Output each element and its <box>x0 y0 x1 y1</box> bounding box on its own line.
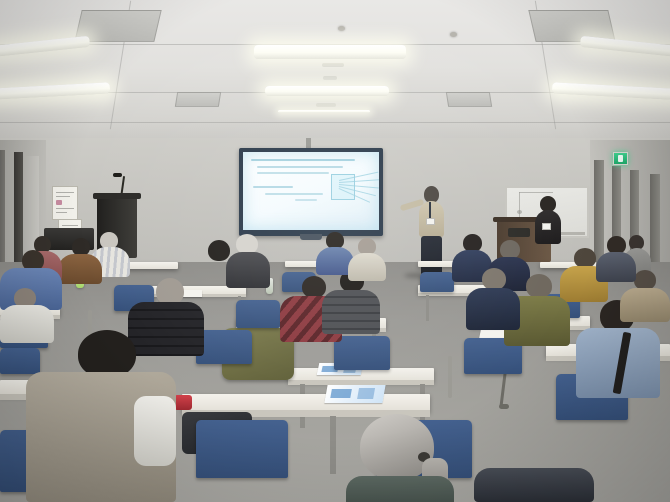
presenter-legs <box>421 236 442 276</box>
ceiling-light <box>0 36 90 59</box>
chair[interactable] <box>334 336 390 370</box>
ceiling-vent <box>175 92 221 107</box>
lectern-top <box>93 193 141 199</box>
torso <box>620 288 670 322</box>
chair[interactable] <box>196 330 252 364</box>
attendee-grey-vest <box>26 330 176 502</box>
podium-equipment <box>508 228 530 237</box>
ceiling-detector <box>316 103 336 107</box>
microphone-icon <box>113 173 122 177</box>
presenter-badge <box>426 218 435 225</box>
torso <box>226 252 270 288</box>
attendee-brown-jacket <box>58 238 102 282</box>
torso <box>58 254 102 284</box>
seminar-room-photo: Audience seated at rows of white tables … <box>0 0 670 502</box>
red-cup[interactable] <box>174 395 192 410</box>
chair[interactable] <box>420 272 454 292</box>
head <box>482 268 506 290</box>
head <box>526 274 552 298</box>
left-door-frame <box>0 150 5 266</box>
ceiling-light <box>552 82 670 100</box>
exit-sign-icon <box>613 152 628 165</box>
arm-sleeve <box>134 396 176 466</box>
ceiling-speaker <box>322 63 344 67</box>
head <box>78 330 136 378</box>
ceiling-light-strip <box>278 110 370 113</box>
chair[interactable] <box>236 300 280 328</box>
head <box>634 270 656 290</box>
torso <box>466 288 520 330</box>
ceiling-speaker <box>323 76 337 80</box>
attendee-navy-sweater <box>466 268 520 328</box>
ceiling-light <box>254 45 406 59</box>
chair[interactable] <box>196 420 288 478</box>
ceiling-vent <box>446 92 492 107</box>
torso <box>474 468 594 502</box>
attendee-ponytail <box>346 414 456 502</box>
head <box>156 278 184 305</box>
ceiling <box>0 0 670 150</box>
left-door[interactable] <box>14 152 23 264</box>
ceiling-light <box>580 36 670 59</box>
sprinkler-icon <box>450 32 457 37</box>
sprinkler-icon <box>338 26 345 31</box>
head <box>236 234 258 254</box>
walking-cane-tip <box>499 404 509 409</box>
wall-poster <box>52 186 78 220</box>
presenter-lanyard <box>429 202 431 219</box>
torso <box>346 476 454 502</box>
head <box>574 248 596 268</box>
ceiling-light <box>0 82 110 100</box>
attendee-grey-hair-vest <box>226 234 270 286</box>
podium-speaker-badge <box>542 223 551 230</box>
handout-booklet[interactable] <box>324 385 385 403</box>
attendee-foreground-right <box>474 468 594 502</box>
torso <box>322 290 380 334</box>
projection-screen <box>243 152 379 230</box>
attendee-cream-top <box>348 238 386 280</box>
torso <box>596 252 636 282</box>
ceiling-light <box>265 86 389 96</box>
torso <box>348 253 386 281</box>
attendee-back-right <box>596 236 636 280</box>
podium-speaker <box>533 196 563 246</box>
